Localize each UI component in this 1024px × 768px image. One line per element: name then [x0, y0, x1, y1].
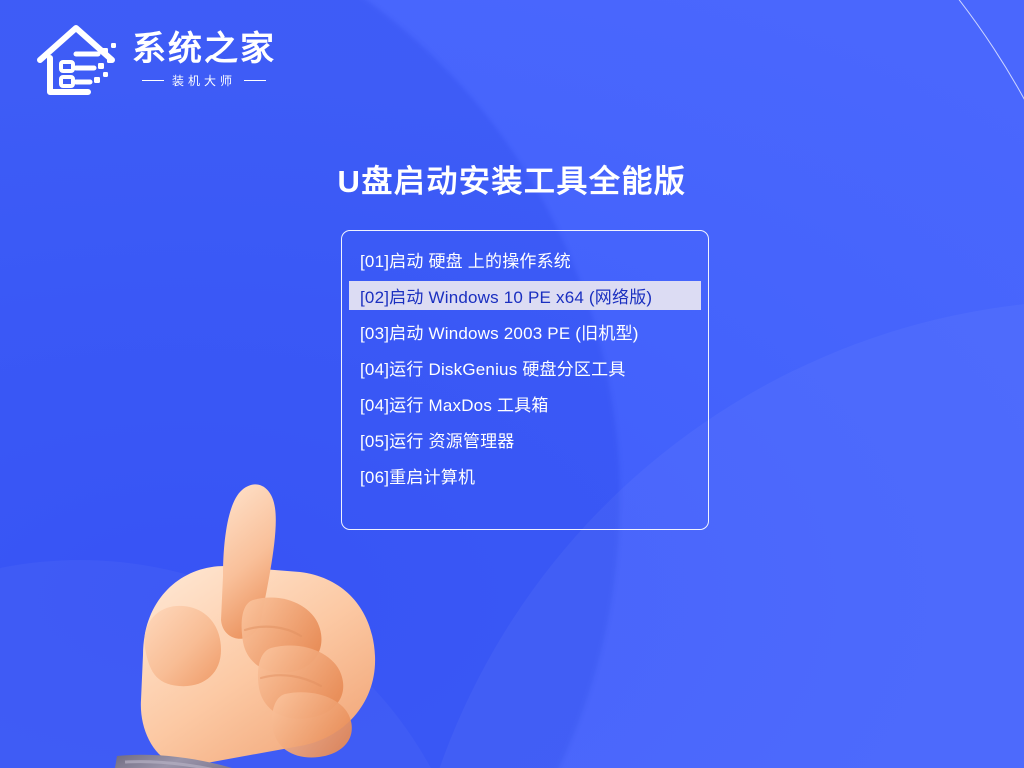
logo-subtitle: 装机大师 [142, 72, 266, 89]
boot-menu-item[interactable]: [03]启动 Windows 2003 PE (旧机型) [349, 317, 701, 346]
boot-menu-item[interactable]: [02]启动 Windows 10 PE x64 (网络版) [349, 281, 701, 310]
pointing-hand-icon [95, 480, 405, 768]
boot-menu-item[interactable]: [01]启动 硬盘 上的操作系统 [349, 245, 701, 274]
house-speed-lines-icon [36, 18, 122, 102]
logo-dash-right [244, 80, 266, 82]
page-title: U盘启动安装工具全能版 [0, 156, 1024, 201]
boot-menu-screen: 系统之家 装机大师 U盘启动安装工具全能版 [01]启动 硬盘 上的操作系统[0… [0, 0, 1024, 768]
brand-logo: 系统之家 装机大师 [36, 18, 276, 102]
boot-menu-item[interactable]: [05]运行 资源管理器 [349, 425, 701, 454]
logo-subtitle-text: 装机大师 [172, 72, 236, 89]
boot-menu-item[interactable]: [04]运行 DiskGenius 硬盘分区工具 [349, 353, 701, 382]
boot-menu-item[interactable]: [04]运行 MaxDos 工具箱 [349, 389, 701, 418]
logo-dash-left [142, 80, 164, 82]
logo-title: 系统之家 [132, 31, 276, 68]
